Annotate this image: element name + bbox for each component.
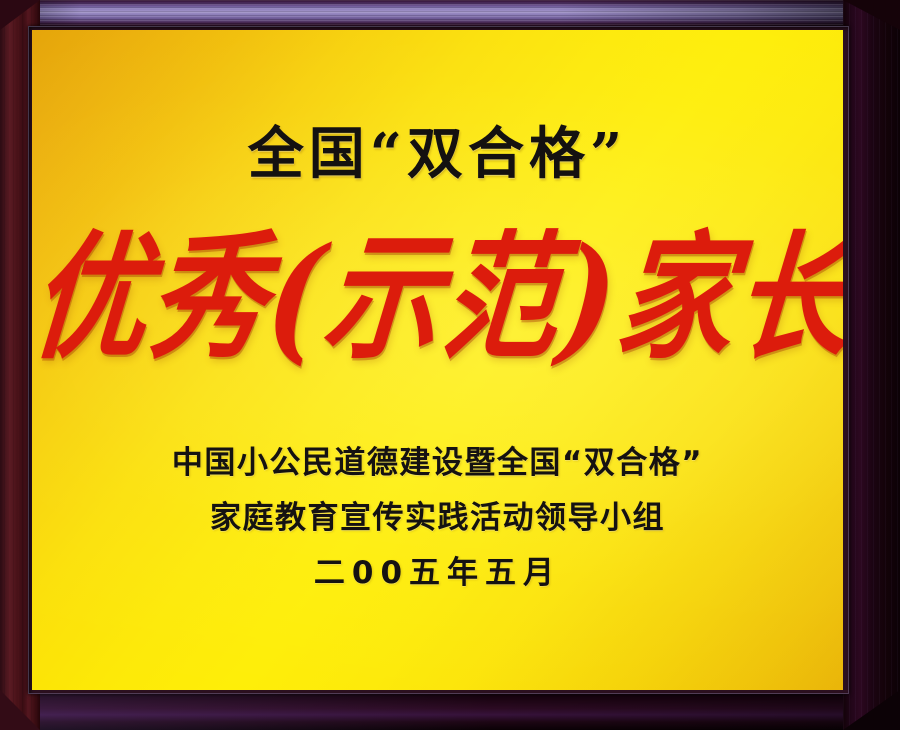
plaque-award-title: 优秀(示范)家长学校 — [32, 230, 843, 367]
plaque-issuer-block: 中国小公民道德建设暨全国“双合格” 家庭教育宣传实践活动领导小组 二00五年五月 — [32, 448, 843, 589]
plaque-headline: 全国“双合格” — [32, 126, 843, 182]
issue-date: 二00五年五月 — [32, 558, 843, 589]
frame-miter-bottom-left — [0, 690, 40, 730]
issuer-line-2: 家庭教育宣传实践活动领导小组 — [32, 503, 843, 534]
plate-content: 全国“双合格” 优秀(示范)家长学校 中国小公民道德建设暨全国“双合格” 家庭教… — [32, 30, 843, 690]
frame-miter-top-right — [843, 0, 900, 30]
frame-rail-right — [843, 0, 900, 730]
issuer-line-1: 中国小公民道德建设暨全国“双合格” — [32, 448, 843, 479]
frame-rail-bottom — [0, 690, 900, 730]
plaque-screenshot: 全国“双合格” 优秀(示范)家长学校 中国小公民道德建设暨全国“双合格” 家庭教… — [0, 0, 900, 730]
award-plate: 全国“双合格” 优秀(示范)家长学校 中国小公民道德建设暨全国“双合格” 家庭教… — [32, 30, 843, 690]
frame-miter-bottom-right — [843, 690, 900, 730]
